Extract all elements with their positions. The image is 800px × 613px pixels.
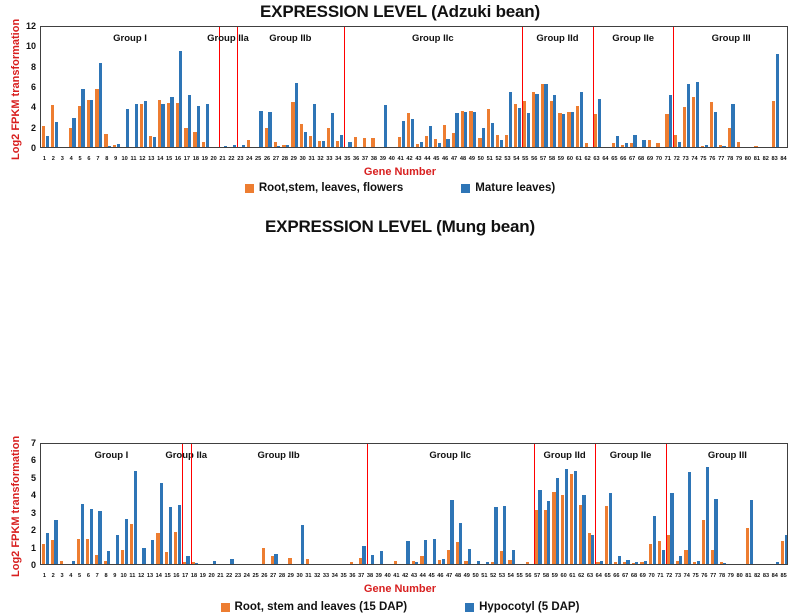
x-tick-label: 68 bbox=[631, 573, 637, 579]
bar bbox=[416, 144, 419, 147]
page-title-secondary: EXPRESSION LEVEL (Mung bean) bbox=[0, 217, 800, 237]
x-tick-label: 2 bbox=[52, 156, 55, 162]
legend-item[interactable]: Root, stem and leaves (15 DAP) bbox=[221, 601, 408, 613]
x-tick-label: 80 bbox=[736, 573, 742, 579]
group-divider bbox=[595, 444, 596, 564]
bar bbox=[274, 554, 277, 564]
x-tick-label: 6 bbox=[87, 156, 90, 162]
x-tick-label: 7 bbox=[96, 573, 99, 579]
bar bbox=[104, 561, 107, 564]
bar bbox=[424, 540, 427, 564]
bar bbox=[633, 135, 636, 147]
x-tick-label: 13 bbox=[148, 156, 154, 162]
x-tick-label: 76 bbox=[701, 573, 707, 579]
bar bbox=[705, 145, 708, 147]
x-tick-label: 33 bbox=[323, 573, 329, 579]
bar bbox=[81, 504, 84, 564]
bar bbox=[486, 562, 489, 564]
bar bbox=[340, 135, 343, 147]
bar bbox=[574, 471, 577, 564]
group-label: Group III bbox=[708, 450, 747, 461]
bar bbox=[359, 558, 362, 564]
x-tick-label: 73 bbox=[682, 156, 688, 162]
bar bbox=[282, 145, 285, 147]
bar bbox=[750, 500, 753, 564]
bar bbox=[125, 519, 128, 564]
x-tick-label: 55 bbox=[516, 573, 522, 579]
y-tick-label: 0 bbox=[31, 560, 36, 570]
mung-bean-chart: EXPRESSION LEVEL (Mung bean) Log2 FPKM t… bbox=[0, 205, 800, 418]
bar bbox=[684, 550, 687, 564]
legend-item[interactable]: Hypocotyl (5 DAP) bbox=[465, 601, 579, 613]
x-tick-label: 76 bbox=[709, 156, 715, 162]
x-tick-label: 17 bbox=[184, 156, 190, 162]
bar bbox=[710, 102, 713, 147]
x-tick-label: 75 bbox=[700, 156, 706, 162]
x-tick-label: 12 bbox=[139, 156, 145, 162]
bar bbox=[151, 540, 154, 564]
bar bbox=[72, 118, 75, 147]
x-tick-label: 67 bbox=[622, 573, 628, 579]
bar bbox=[505, 135, 508, 147]
group-label: Group IIa bbox=[207, 33, 249, 44]
bar bbox=[623, 562, 626, 564]
bar bbox=[371, 555, 374, 564]
bar bbox=[674, 135, 677, 147]
x-tick-label: 51 bbox=[487, 156, 493, 162]
bar bbox=[618, 556, 621, 565]
x-tick-label: 5 bbox=[79, 156, 82, 162]
bar bbox=[722, 146, 725, 147]
bar bbox=[144, 101, 147, 147]
bar bbox=[571, 112, 574, 147]
bar bbox=[195, 563, 198, 564]
group-divider bbox=[344, 27, 345, 147]
bar bbox=[746, 528, 749, 564]
bar bbox=[612, 143, 615, 147]
x-tick-label: 17 bbox=[182, 573, 188, 579]
bar bbox=[86, 539, 89, 564]
bar bbox=[54, 520, 57, 564]
x-tick-label: 43 bbox=[415, 156, 421, 162]
bar bbox=[642, 140, 645, 147]
bar bbox=[362, 546, 365, 564]
group-label: Group III bbox=[712, 33, 751, 44]
bar bbox=[420, 556, 423, 564]
x-tick-label: 56 bbox=[525, 573, 531, 579]
x-tick-label: 63 bbox=[587, 573, 593, 579]
x-tick-label: 11 bbox=[131, 156, 137, 162]
legend-item[interactable]: Root,stem, leaves, flowers bbox=[245, 182, 403, 194]
bar bbox=[268, 112, 271, 147]
bar bbox=[558, 113, 561, 147]
legend-bottom: Root, stem and leaves (15 DAP)Hypocotyl … bbox=[0, 601, 800, 613]
bar bbox=[635, 562, 638, 564]
x-tick-label: 77 bbox=[718, 156, 724, 162]
x-tick-label: 79 bbox=[736, 156, 742, 162]
bar bbox=[464, 112, 467, 147]
bar bbox=[104, 134, 107, 147]
bar bbox=[523, 101, 526, 147]
bar bbox=[300, 124, 303, 147]
x-tick-label: 15 bbox=[164, 573, 170, 579]
bar bbox=[728, 128, 731, 147]
bar bbox=[579, 505, 582, 564]
bar bbox=[658, 541, 661, 564]
page-title: EXPRESSION LEVEL (Adzuki bean) bbox=[0, 2, 800, 22]
x-tick-label: 22 bbox=[226, 573, 232, 579]
y-tick-label: 2 bbox=[31, 123, 36, 133]
y-tick-label: 6 bbox=[31, 455, 36, 465]
bar bbox=[406, 541, 409, 564]
bar bbox=[491, 123, 494, 147]
x-tick-label: 75 bbox=[692, 573, 698, 579]
x-tick-label: 36 bbox=[349, 573, 355, 579]
bar bbox=[158, 100, 161, 147]
bar bbox=[697, 561, 700, 564]
bar bbox=[160, 483, 163, 564]
bar bbox=[429, 126, 432, 147]
bar bbox=[473, 112, 476, 147]
x-tick-label: 20 bbox=[211, 156, 217, 162]
y-axis-ticks-top: 024681012 bbox=[18, 26, 36, 148]
x-tick-label: 29 bbox=[288, 573, 294, 579]
x-axis-label-top: Gene Number bbox=[0, 166, 800, 178]
x-tick-label: 25 bbox=[255, 156, 261, 162]
bar bbox=[625, 143, 628, 147]
bar bbox=[508, 560, 511, 564]
x-tick-label: 9 bbox=[114, 156, 117, 162]
x-tick-label: 31 bbox=[305, 573, 311, 579]
legend-label: Mature leaves) bbox=[475, 182, 555, 194]
bar bbox=[737, 142, 740, 147]
bar bbox=[247, 140, 250, 147]
bar bbox=[117, 144, 120, 147]
x-tick-label: 4 bbox=[70, 156, 73, 162]
bar bbox=[776, 562, 779, 564]
y-axis-ticks-bottom: 01234567 bbox=[18, 443, 36, 565]
bar bbox=[161, 104, 164, 147]
bar bbox=[754, 146, 757, 147]
x-tick-label: 31 bbox=[308, 156, 314, 162]
x-tick-label: 49 bbox=[464, 573, 470, 579]
bar bbox=[304, 132, 307, 147]
x-tick-label: 52 bbox=[490, 573, 496, 579]
bar bbox=[309, 136, 312, 147]
x-tick-label: 14 bbox=[156, 573, 162, 579]
x-tick-label: 59 bbox=[552, 573, 558, 579]
x-tick-label: 58 bbox=[549, 156, 555, 162]
x-tick-label: 44 bbox=[424, 156, 430, 162]
bar bbox=[184, 128, 187, 147]
x-tick-label: 21 bbox=[219, 156, 225, 162]
bar bbox=[140, 104, 143, 147]
x-tick-label: 65 bbox=[604, 573, 610, 579]
x-tick-label: 4 bbox=[69, 573, 72, 579]
x-axis-label-bottom: Gene Number bbox=[0, 583, 800, 595]
bar bbox=[438, 143, 441, 147]
bar bbox=[443, 125, 446, 147]
bar bbox=[149, 136, 152, 147]
x-tick-label: 47 bbox=[446, 573, 452, 579]
group-label: Group I bbox=[95, 450, 129, 461]
x-tick-label: 72 bbox=[666, 573, 672, 579]
x-tick-label: 66 bbox=[620, 156, 626, 162]
x-tick-label: 30 bbox=[296, 573, 302, 579]
group-label: Group IIa bbox=[165, 450, 207, 461]
bar bbox=[130, 524, 133, 564]
x-tick-label: 9 bbox=[113, 573, 116, 579]
bar bbox=[322, 141, 325, 147]
bar bbox=[772, 101, 775, 147]
bar bbox=[72, 561, 75, 564]
bar bbox=[434, 139, 437, 147]
bar bbox=[706, 467, 709, 564]
legend-swatch-icon bbox=[465, 603, 474, 612]
x-tick-label: 6 bbox=[87, 573, 90, 579]
group-label: Group IIc bbox=[412, 33, 454, 44]
bar bbox=[288, 558, 291, 564]
x-tick-label: 38 bbox=[371, 156, 377, 162]
x-tick-label: 36 bbox=[353, 156, 359, 162]
bar bbox=[277, 146, 280, 147]
bar bbox=[459, 523, 462, 564]
y-tick-label: 6 bbox=[31, 82, 36, 92]
x-tick-label: 69 bbox=[647, 156, 653, 162]
bar bbox=[609, 493, 612, 564]
bar bbox=[719, 145, 722, 147]
x-tick-label: 24 bbox=[246, 156, 252, 162]
bar bbox=[98, 511, 101, 564]
x-tick-label: 32 bbox=[317, 156, 323, 162]
x-tick-label: 84 bbox=[780, 156, 786, 162]
bar bbox=[544, 510, 547, 564]
x-tick-label: 41 bbox=[393, 573, 399, 579]
bar bbox=[693, 562, 696, 564]
x-tick-label: 28 bbox=[282, 156, 288, 162]
x-tick-label: 53 bbox=[504, 156, 510, 162]
bar bbox=[596, 562, 599, 564]
bar bbox=[407, 113, 410, 147]
bar bbox=[688, 472, 691, 564]
bar bbox=[683, 107, 686, 147]
bar bbox=[491, 562, 494, 564]
bar bbox=[670, 493, 673, 564]
x-tick-label: 40 bbox=[384, 573, 390, 579]
x-tick-label: 74 bbox=[691, 156, 697, 162]
bar bbox=[576, 106, 579, 147]
bar bbox=[95, 89, 98, 147]
bar bbox=[46, 533, 49, 564]
bar bbox=[197, 106, 200, 147]
bar bbox=[553, 95, 556, 147]
bar bbox=[632, 563, 635, 564]
legend-item[interactable]: Mature leaves) bbox=[461, 182, 555, 194]
bar bbox=[193, 132, 196, 147]
x-tick-label: 5 bbox=[78, 573, 81, 579]
bar bbox=[464, 561, 467, 564]
y-tick-label: 10 bbox=[26, 41, 36, 51]
x-tick-label: 54 bbox=[513, 156, 519, 162]
x-tick-label: 30 bbox=[300, 156, 306, 162]
bar bbox=[412, 561, 415, 564]
y-tick-label: 5 bbox=[31, 473, 36, 483]
x-tick-label: 37 bbox=[358, 573, 364, 579]
bar bbox=[679, 556, 682, 565]
x-tick-label: 2 bbox=[52, 573, 55, 579]
bar bbox=[192, 562, 195, 564]
x-tick-label: 46 bbox=[437, 573, 443, 579]
bar bbox=[616, 136, 619, 147]
bar bbox=[518, 108, 521, 147]
x-tick-label: 68 bbox=[638, 156, 644, 162]
x-tick-label: 43 bbox=[411, 573, 417, 579]
bar bbox=[60, 561, 63, 564]
bar bbox=[731, 104, 734, 147]
bar bbox=[482, 128, 485, 147]
x-tick-label: 19 bbox=[202, 156, 208, 162]
x-tick-label: 47 bbox=[451, 156, 457, 162]
bar bbox=[153, 137, 156, 147]
bar bbox=[156, 533, 159, 564]
x-tick-label: 64 bbox=[596, 573, 602, 579]
adzuki-bean-chart: EXPRESSION LEVEL (Adzuki bean) Log2 FPKM… bbox=[0, 0, 800, 205]
bar bbox=[142, 548, 145, 564]
x-tick-label: 10 bbox=[121, 156, 127, 162]
bar bbox=[487, 109, 490, 147]
bar bbox=[450, 500, 453, 564]
group-label: Group IId bbox=[536, 33, 578, 44]
bar bbox=[121, 550, 124, 564]
x-tick-label: 27 bbox=[273, 156, 279, 162]
x-tick-label: 63 bbox=[593, 156, 599, 162]
bar bbox=[585, 143, 588, 147]
bar bbox=[626, 560, 629, 564]
bar bbox=[46, 136, 49, 147]
x-tick-label: 82 bbox=[763, 156, 769, 162]
x-tick-label: 24 bbox=[244, 573, 250, 579]
x-tick-label: 70 bbox=[656, 156, 662, 162]
bar bbox=[478, 138, 481, 147]
x-tick-label: 58 bbox=[543, 573, 549, 579]
x-tick-label: 66 bbox=[613, 573, 619, 579]
x-tick-label: 20 bbox=[208, 573, 214, 579]
x-axis-ticks-top: 1234567891011121314151617181920212223242… bbox=[40, 150, 788, 162]
bar bbox=[179, 51, 182, 147]
bar bbox=[720, 562, 723, 564]
bar bbox=[336, 141, 339, 147]
bar bbox=[469, 111, 472, 147]
x-tick-label: 11 bbox=[129, 573, 135, 579]
bar bbox=[169, 507, 172, 564]
x-tick-label: 72 bbox=[674, 156, 680, 162]
x-tick-label: 62 bbox=[578, 573, 584, 579]
x-tick-label: 29 bbox=[291, 156, 297, 162]
x-tick-label: 81 bbox=[745, 573, 751, 579]
x-tick-label: 40 bbox=[389, 156, 395, 162]
bar bbox=[51, 105, 54, 147]
x-tick-label: 65 bbox=[611, 156, 617, 162]
x-tick-label: 13 bbox=[147, 573, 153, 579]
bar bbox=[134, 471, 137, 564]
x-tick-label: 16 bbox=[173, 573, 179, 579]
x-tick-label: 42 bbox=[402, 573, 408, 579]
x-tick-label: 82 bbox=[754, 573, 760, 579]
x-tick-label: 84 bbox=[772, 573, 778, 579]
bar bbox=[331, 113, 334, 147]
bar bbox=[653, 516, 656, 564]
legend-label: Hypocotyl (5 DAP) bbox=[479, 601, 579, 613]
bar bbox=[561, 495, 564, 564]
bar bbox=[174, 532, 177, 564]
y-tick-label: 4 bbox=[31, 490, 36, 500]
x-tick-label: 71 bbox=[657, 573, 663, 579]
bar bbox=[327, 128, 330, 147]
x-tick-label: 3 bbox=[60, 573, 63, 579]
x-tick-label: 7 bbox=[96, 156, 99, 162]
bar bbox=[503, 506, 506, 564]
bar bbox=[69, 128, 72, 147]
bar bbox=[286, 145, 289, 147]
bar bbox=[565, 469, 568, 564]
bar bbox=[78, 106, 81, 147]
bar bbox=[723, 563, 726, 564]
x-tick-label: 48 bbox=[460, 156, 466, 162]
x-tick-label: 34 bbox=[335, 156, 341, 162]
x-tick-label: 78 bbox=[719, 573, 725, 579]
bar bbox=[456, 542, 459, 564]
group-divider bbox=[534, 444, 535, 564]
bar bbox=[363, 138, 366, 147]
bar bbox=[442, 559, 445, 564]
group-label: Group IIc bbox=[429, 450, 471, 461]
x-tick-label: 8 bbox=[104, 573, 107, 579]
bar bbox=[552, 492, 555, 564]
x-tick-label: 45 bbox=[428, 573, 434, 579]
x-tick-label: 39 bbox=[376, 573, 382, 579]
x-tick-label: 25 bbox=[252, 573, 258, 579]
bar bbox=[318, 141, 321, 147]
bar bbox=[242, 145, 245, 147]
x-tick-label: 16 bbox=[175, 156, 181, 162]
bar bbox=[51, 540, 54, 564]
y-tick-label: 0 bbox=[31, 143, 36, 153]
bar bbox=[411, 119, 414, 147]
bar bbox=[468, 549, 471, 564]
x-tick-label: 64 bbox=[602, 156, 608, 162]
bar bbox=[274, 142, 277, 147]
x-tick-label: 34 bbox=[332, 573, 338, 579]
x-tick-label: 67 bbox=[629, 156, 635, 162]
bar bbox=[535, 510, 538, 564]
bar bbox=[702, 520, 705, 564]
bar bbox=[509, 92, 512, 147]
bar bbox=[500, 551, 503, 564]
bar bbox=[776, 54, 779, 147]
x-tick-label: 45 bbox=[433, 156, 439, 162]
x-tick-label: 18 bbox=[193, 156, 199, 162]
bar bbox=[544, 84, 547, 147]
bar bbox=[90, 509, 93, 564]
bar bbox=[202, 142, 205, 147]
bar bbox=[55, 122, 58, 147]
y-tick-label: 7 bbox=[31, 438, 36, 448]
bar bbox=[398, 137, 401, 147]
x-tick-label: 10 bbox=[120, 573, 126, 579]
x-tick-label: 15 bbox=[166, 156, 172, 162]
plot-area-bottom: Group IGroup IIaGroup IIbGroup IIcGroup … bbox=[40, 443, 788, 565]
legend-top: Root,stem, leaves, flowersMature leaves) bbox=[0, 182, 800, 194]
